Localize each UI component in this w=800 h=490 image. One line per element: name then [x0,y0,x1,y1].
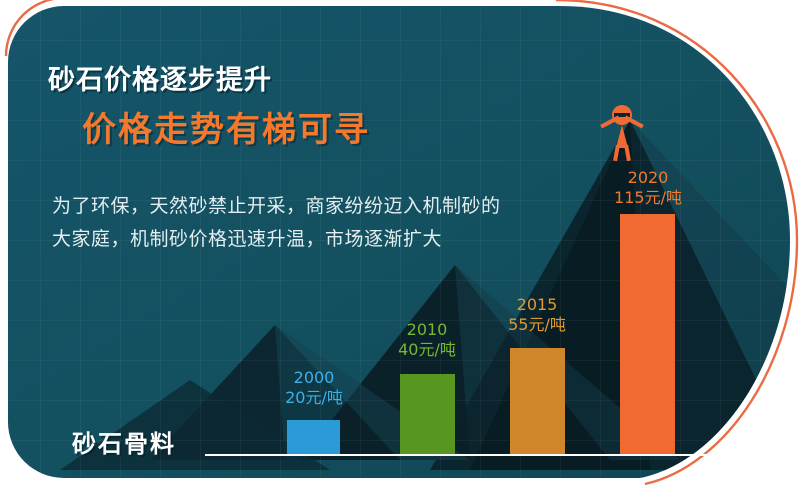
infographic-canvas: 砂石价格逐步提升 价格走势有梯可寻 为了环保，天然砂禁止开采，商家纷纷迈入机制砂… [0,0,800,490]
bar-label-2015: 2015 55元/吨 [477,295,597,335]
bar-label-2010: 2010 40元/吨 [367,320,487,360]
bar-label-2000: 2000 20元/吨 [254,368,374,408]
chart-baseline [205,454,780,456]
bar-2020 [620,214,675,454]
bar-label-2020: 2020 115元/吨 [588,168,708,208]
bar-2000 [287,420,340,454]
page-title: 砂石价格逐步提升 [48,58,272,97]
bar-2015 [510,348,565,454]
bar-2010 [400,374,455,454]
body-paragraph: 为了环保，天然砂禁止开采，商家纷纷迈入机制砂的大家庭，机制砂价格迅速升温，市场逐… [52,190,512,256]
page-subtitle: 价格走势有梯可寻 [82,102,370,151]
footer-label: 砂石骨料 [72,424,176,459]
